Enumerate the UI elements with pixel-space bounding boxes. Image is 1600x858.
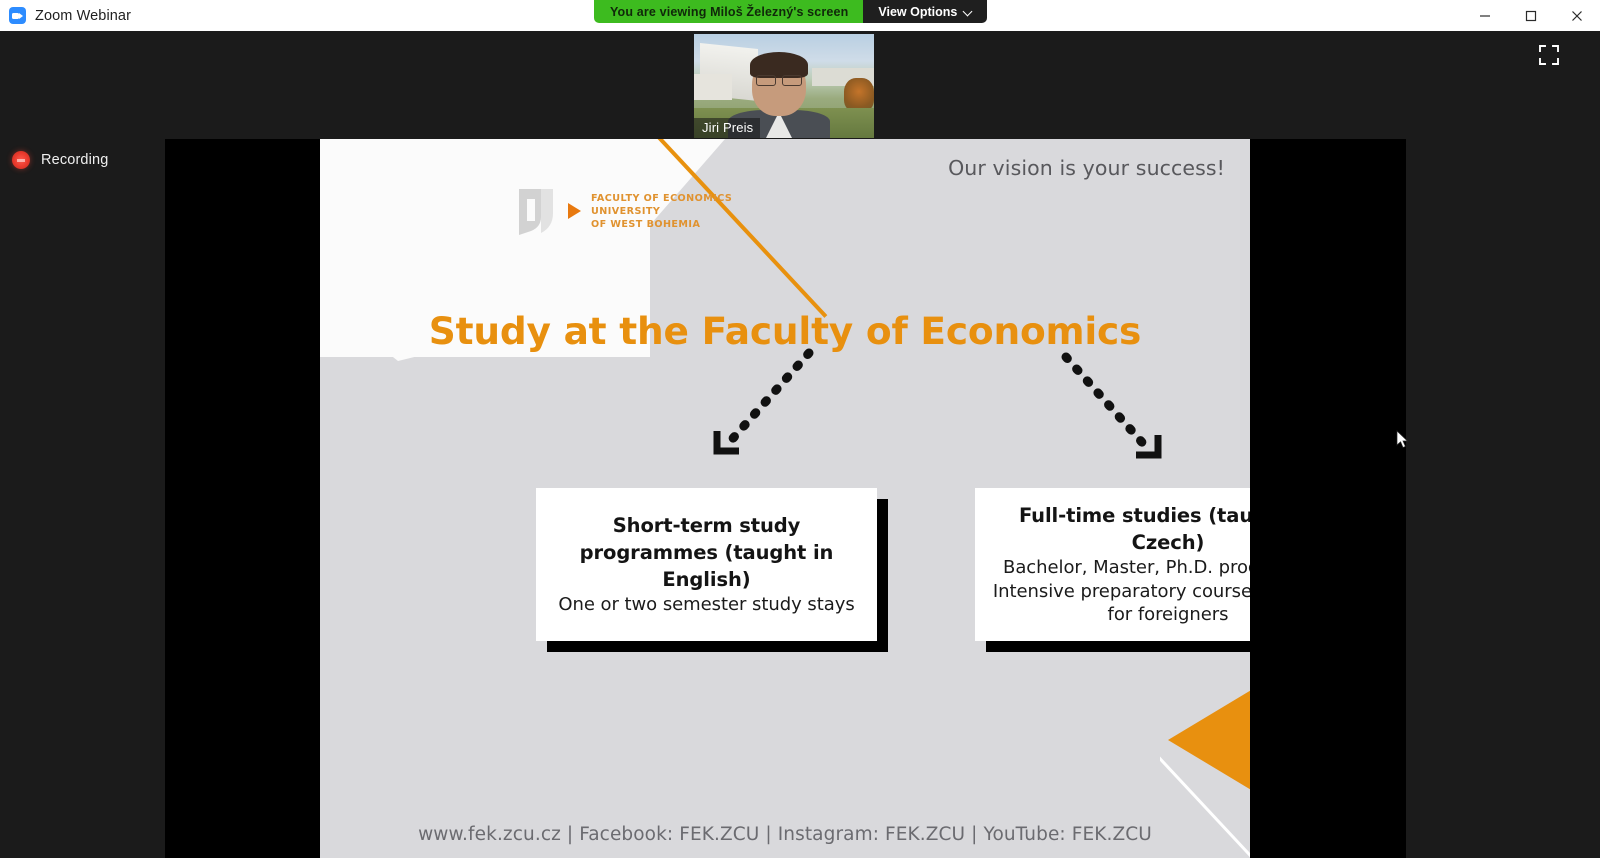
logo-line-2: UNIVERSITY (591, 206, 732, 217)
zoom-camera-icon (9, 7, 26, 24)
mouse-pointer-icon (1396, 430, 1410, 450)
viewing-screen-label: You are viewing Miloš Železný's screen (594, 0, 863, 23)
logo-line-1: FACULTY OF ECONOMICS (591, 193, 732, 204)
recording-label: Recording (41, 152, 108, 168)
participant-name-label: Jiri Preis (694, 118, 760, 138)
shared-screen-stage[interactable]: Our vision is your success! FACULTY OF E… (165, 139, 1406, 858)
background-building-secondary (694, 74, 732, 100)
dashed-arrow-down-left-icon (705, 347, 815, 462)
card-short-term-programmes: Short-term study programmes (taught in E… (536, 488, 877, 641)
dashed-arrow-down-right-icon (1060, 351, 1170, 466)
uwb-logo-mark (515, 187, 561, 235)
record-icon (12, 151, 30, 169)
viewing-banner: You are viewing Miloš Železný's screen V… (594, 0, 987, 23)
logo-text: FACULTY OF ECONOMICS UNIVERSITY OF WEST … (591, 193, 732, 230)
minimize-button[interactable] (1462, 0, 1508, 31)
card-heading: Short-term study programmes (taught in E… (552, 512, 861, 593)
card-heading: Full-time studies (taught in Czech) (991, 502, 1250, 556)
view-options-button[interactable]: View Options (863, 0, 987, 23)
card-line: Bachelor, Master, Ph.D. programmes (1003, 556, 1250, 580)
faculty-logo: FACULTY OF ECONOMICS UNIVERSITY OF WEST … (515, 187, 732, 235)
window-controls (1462, 0, 1600, 31)
orange-triangle-icon (568, 203, 581, 219)
card-full-time-studies: Full-time studies (taught in Czech) Bach… (975, 488, 1250, 641)
close-button[interactable] (1554, 0, 1600, 31)
presentation-slide: Our vision is your success! FACULTY OF E… (320, 139, 1250, 858)
titlebar-left: Zoom Webinar (0, 7, 131, 24)
fullscreen-icon[interactable] (1538, 44, 1560, 66)
recording-indicator[interactable]: Recording (12, 151, 108, 169)
view-options-label: View Options (878, 5, 957, 19)
slide-tagline: Our vision is your success! (948, 156, 1225, 180)
logo-line-3: OF WEST BOHEMIA (591, 219, 732, 230)
card-line: Intensive preparatory courses in Czech f… (991, 580, 1250, 627)
participant-glasses (756, 75, 802, 84)
chevron-down-icon (964, 8, 972, 16)
slide-footer: www.fek.zcu.cz | Facebook: FEK.ZCU | Ins… (320, 824, 1250, 845)
participant-video-thumbnail[interactable]: Jiri Preis (694, 34, 874, 138)
slide-white-diagonal-line (1160, 748, 1250, 858)
maximize-button[interactable] (1508, 0, 1554, 31)
background-tree (844, 78, 874, 112)
card-line: One or two semester study stays (558, 593, 854, 617)
window-title: Zoom Webinar (35, 8, 131, 24)
